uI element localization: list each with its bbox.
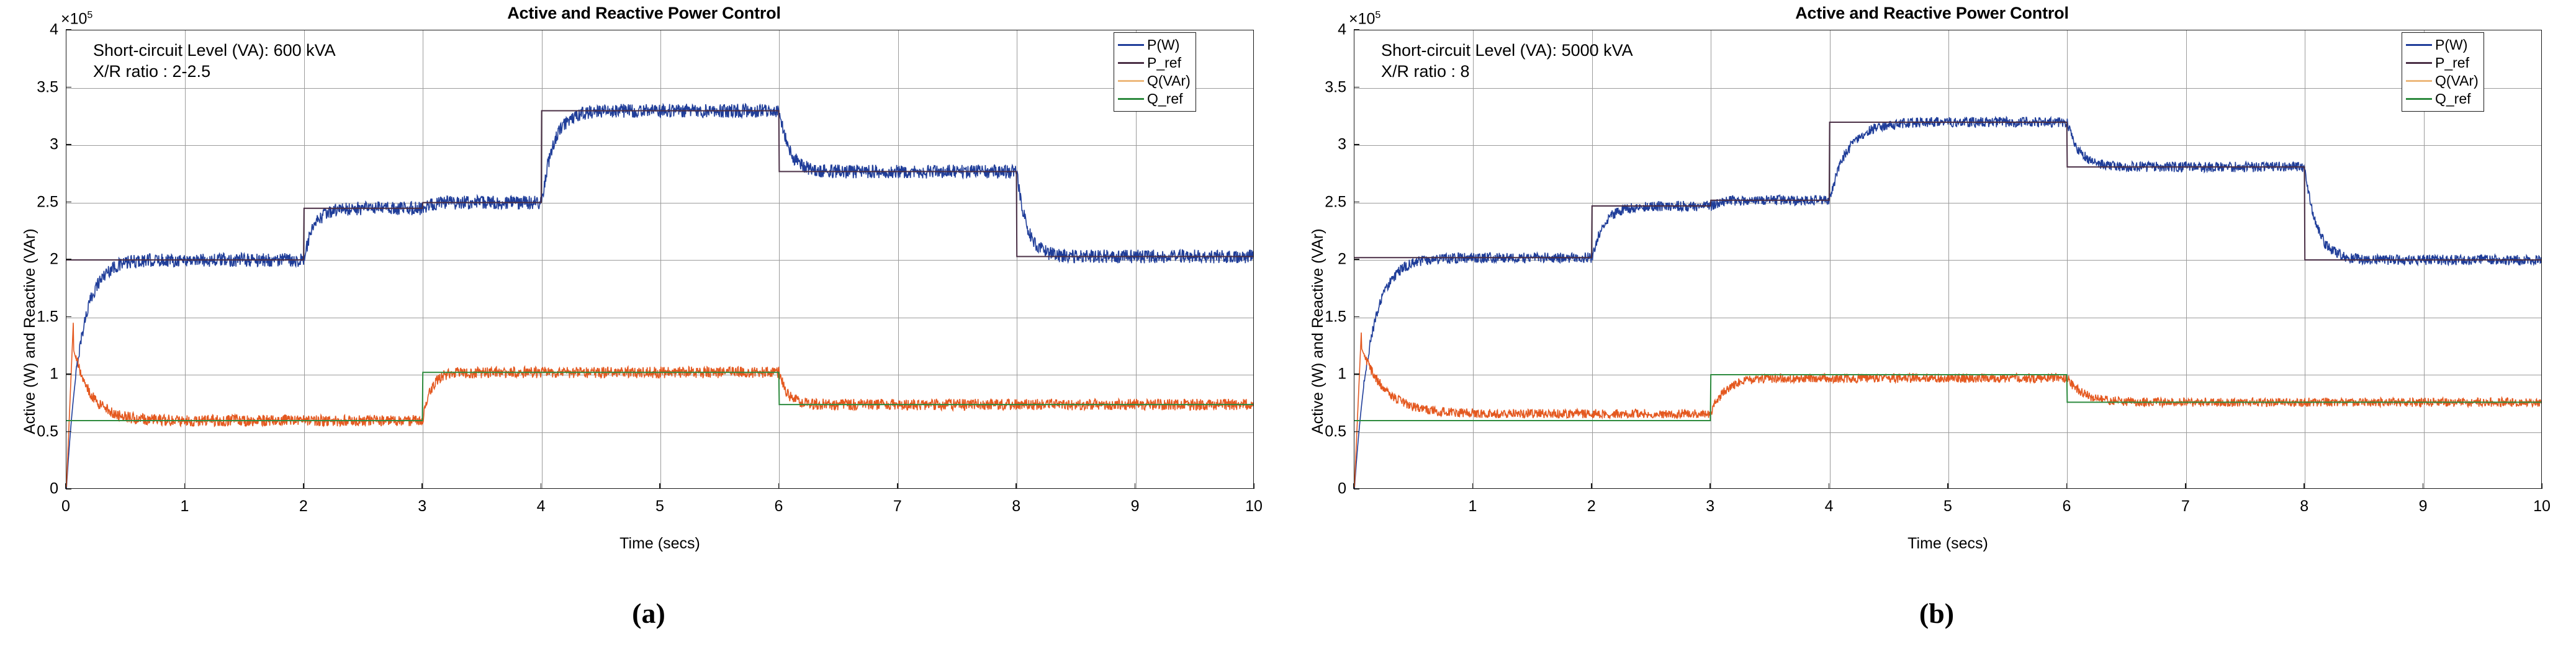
- legend-label: P_ref: [1147, 56, 1181, 70]
- x-tick-label: 7: [893, 498, 902, 516]
- legend-item[interactable]: Q_ref: [2406, 90, 2479, 108]
- annotation-b-line1: Short-circuit Level (VA): 5000 kVA: [1381, 40, 1633, 61]
- panel-b-caption: (b): [1919, 597, 1954, 630]
- legend-color-swatch: [2406, 62, 2432, 64]
- series-line-pw: [66, 104, 1254, 489]
- x-tick-mark: [897, 483, 898, 489]
- x-tick-mark: [1253, 483, 1254, 489]
- y-multiplier-base: ×10: [61, 10, 87, 27]
- x-tick-mark: [1829, 483, 1830, 489]
- legend-label: Q(VAr): [1147, 74, 1191, 88]
- y-tick-label: 3.5: [2, 78, 58, 96]
- series-layer: [1354, 30, 2542, 489]
- legend-item[interactable]: P(W): [1118, 36, 1191, 54]
- y-tick-label: 3.5: [1290, 78, 1346, 96]
- y-tick-mark: [1354, 259, 1359, 260]
- legend-b: P(W)P_refQ(VAr)Q_ref: [2402, 32, 2484, 112]
- series-layer: [66, 30, 1254, 489]
- chart-panel-a: Active and Reactive Power Control ×105 0…: [0, 0, 1288, 670]
- series-line-p_ref: [1354, 122, 2542, 260]
- x-tick-mark: [2304, 483, 2305, 489]
- legend-a: P(W)P_refQ(VAr)Q_ref: [1114, 32, 1196, 112]
- x-tick-label: 8: [2300, 498, 2308, 516]
- legend-item[interactable]: Q_ref: [1118, 90, 1191, 108]
- y-multiplier-exp: 5: [1375, 10, 1380, 20]
- x-tick-mark: [1947, 483, 1948, 489]
- figure-root: Active and Reactive Power Control ×105 0…: [0, 0, 2576, 670]
- x-tick-label: 6: [2062, 498, 2071, 516]
- x-tick-label: 1: [180, 498, 189, 516]
- y-axis-label-b: Active (W) and Reactive (VAr): [1309, 228, 1327, 434]
- panel-a-caption: (a): [632, 597, 665, 630]
- legend-label: P(W): [1147, 38, 1179, 52]
- x-tick-label: 10: [1245, 498, 1263, 516]
- legend-color-swatch: [1118, 98, 1144, 100]
- y-tick-label: 2.5: [1290, 193, 1346, 211]
- y-tick-mark: [1354, 431, 1359, 432]
- y-tick-label: 0: [1290, 480, 1346, 498]
- legend-label: P(W): [2435, 38, 2467, 52]
- x-tick-label: 7: [2181, 498, 2190, 516]
- x-tick-label: 2: [299, 498, 308, 516]
- x-tick-mark: [421, 483, 423, 489]
- x-tick-label: 3: [1706, 498, 1714, 516]
- x-tick-mark: [1472, 483, 1474, 489]
- legend-color-swatch: [1118, 44, 1144, 46]
- x-tick-label: 5: [1943, 498, 1952, 516]
- chart-title-a: Active and Reactive Power Control: [0, 4, 1288, 23]
- y-multiplier-base: ×10: [1349, 10, 1375, 27]
- legend-label: Q_ref: [2435, 92, 2471, 106]
- plot-area-b: [1354, 30, 2542, 489]
- series-line-p_ref: [66, 111, 1254, 261]
- x-axis-label-b: Time (secs): [1354, 535, 2542, 553]
- legend-item[interactable]: P_ref: [2406, 54, 2479, 72]
- annotation-b: Short-circuit Level (VA): 5000 kVA X/R r…: [1381, 40, 1633, 82]
- x-tick-label: 6: [774, 498, 783, 516]
- y-multiplier-exp: 5: [87, 10, 92, 20]
- x-tick-mark: [2423, 483, 2424, 489]
- x-tick-label: 9: [2419, 498, 2428, 516]
- y-tick-mark: [1354, 87, 1359, 88]
- x-tick-mark: [778, 483, 780, 489]
- chart-title-b: Active and Reactive Power Control: [1288, 4, 2576, 23]
- legend-color-swatch: [1118, 62, 1144, 64]
- y-tick-label: 2.5: [2, 193, 58, 211]
- x-tick-label: 10: [2533, 498, 2551, 516]
- x-tick-label: 5: [655, 498, 664, 516]
- series-line-q_ref: [66, 372, 1254, 421]
- y-tick-label: 4: [1290, 21, 1346, 39]
- y-tick-label: 3: [1290, 136, 1346, 154]
- x-tick-mark: [2185, 483, 2186, 489]
- y-tick-mark: [1354, 202, 1359, 203]
- x-tick-label: 1: [1468, 498, 1477, 516]
- x-tick-label: 2: [1587, 498, 1596, 516]
- y-tick-mark: [1354, 144, 1359, 145]
- y-tick-mark: [66, 316, 71, 318]
- x-tick-label: 0: [61, 498, 70, 516]
- x-tick-label: 4: [1825, 498, 1834, 516]
- y-tick-mark: [66, 431, 71, 432]
- y-tick-mark: [1354, 373, 1359, 375]
- legend-color-swatch: [2406, 98, 2432, 100]
- y-tick-mark: [66, 488, 71, 489]
- y-axis-multiplier-a: ×105: [61, 10, 92, 28]
- y-tick-mark: [1354, 488, 1359, 489]
- x-tick-mark: [1016, 483, 1017, 489]
- y-tick-mark: [66, 373, 71, 375]
- legend-label: P_ref: [2435, 56, 2469, 70]
- x-tick-mark: [1591, 483, 1592, 489]
- legend-item[interactable]: Q(VAr): [2406, 72, 2479, 90]
- y-tick-mark: [66, 259, 71, 260]
- legend-color-swatch: [1118, 80, 1144, 82]
- y-tick-label: 0: [2, 480, 58, 498]
- legend-label: Q(VAr): [2435, 74, 2479, 88]
- x-tick-mark: [303, 483, 304, 489]
- x-axis-label-a: Time (secs): [66, 535, 1254, 553]
- x-tick-mark: [1135, 483, 1136, 489]
- x-tick-label: 8: [1012, 498, 1020, 516]
- x-tick-mark: [1709, 483, 1711, 489]
- y-tick-mark: [66, 144, 71, 145]
- annotation-b-line2: X/R ratio : 8: [1381, 61, 1633, 82]
- x-tick-label: 9: [1131, 498, 1140, 516]
- y-tick-mark: [1354, 316, 1359, 318]
- legend-label: Q_ref: [1147, 92, 1183, 106]
- x-tick-mark: [1353, 483, 1354, 489]
- x-tick-mark: [2066, 483, 2068, 489]
- legend-item[interactable]: P(W): [2406, 36, 2479, 54]
- x-tick-mark: [2541, 483, 2542, 489]
- plot-area-a: [66, 30, 1254, 489]
- series-line-qvar: [1354, 333, 2542, 487]
- y-tick-label: 3: [2, 136, 58, 154]
- series-line-pw: [1354, 117, 2542, 489]
- chart-panel-b: Active and Reactive Power Control ×105 0…: [1288, 0, 2576, 670]
- y-axis-multiplier-b: ×105: [1349, 10, 1380, 28]
- x-tick-label: 4: [537, 498, 546, 516]
- legend-color-swatch: [2406, 44, 2432, 46]
- legend-color-swatch: [2406, 80, 2432, 82]
- x-tick-mark: [659, 483, 660, 489]
- annotation-a: Short-circuit Level (VA): 600 kVA X/R ra…: [93, 40, 336, 82]
- y-tick-mark: [66, 202, 71, 203]
- y-tick-mark: [66, 87, 71, 88]
- x-tick-mark: [65, 483, 66, 489]
- x-tick-mark: [541, 483, 542, 489]
- legend-item[interactable]: Q(VAr): [1118, 72, 1191, 90]
- annotation-a-line2: X/R ratio : 2-2.5: [93, 61, 336, 82]
- y-tick-label: 4: [2, 21, 58, 39]
- y-tick-mark: [66, 29, 71, 30]
- y-tick-mark: [1354, 29, 1359, 30]
- annotation-a-line1: Short-circuit Level (VA): 600 kVA: [93, 40, 336, 61]
- x-tick-label: 3: [418, 498, 426, 516]
- y-axis-label-a: Active (W) and Reactive (VAr): [21, 228, 39, 434]
- legend-item[interactable]: P_ref: [1118, 54, 1191, 72]
- x-tick-mark: [184, 483, 186, 489]
